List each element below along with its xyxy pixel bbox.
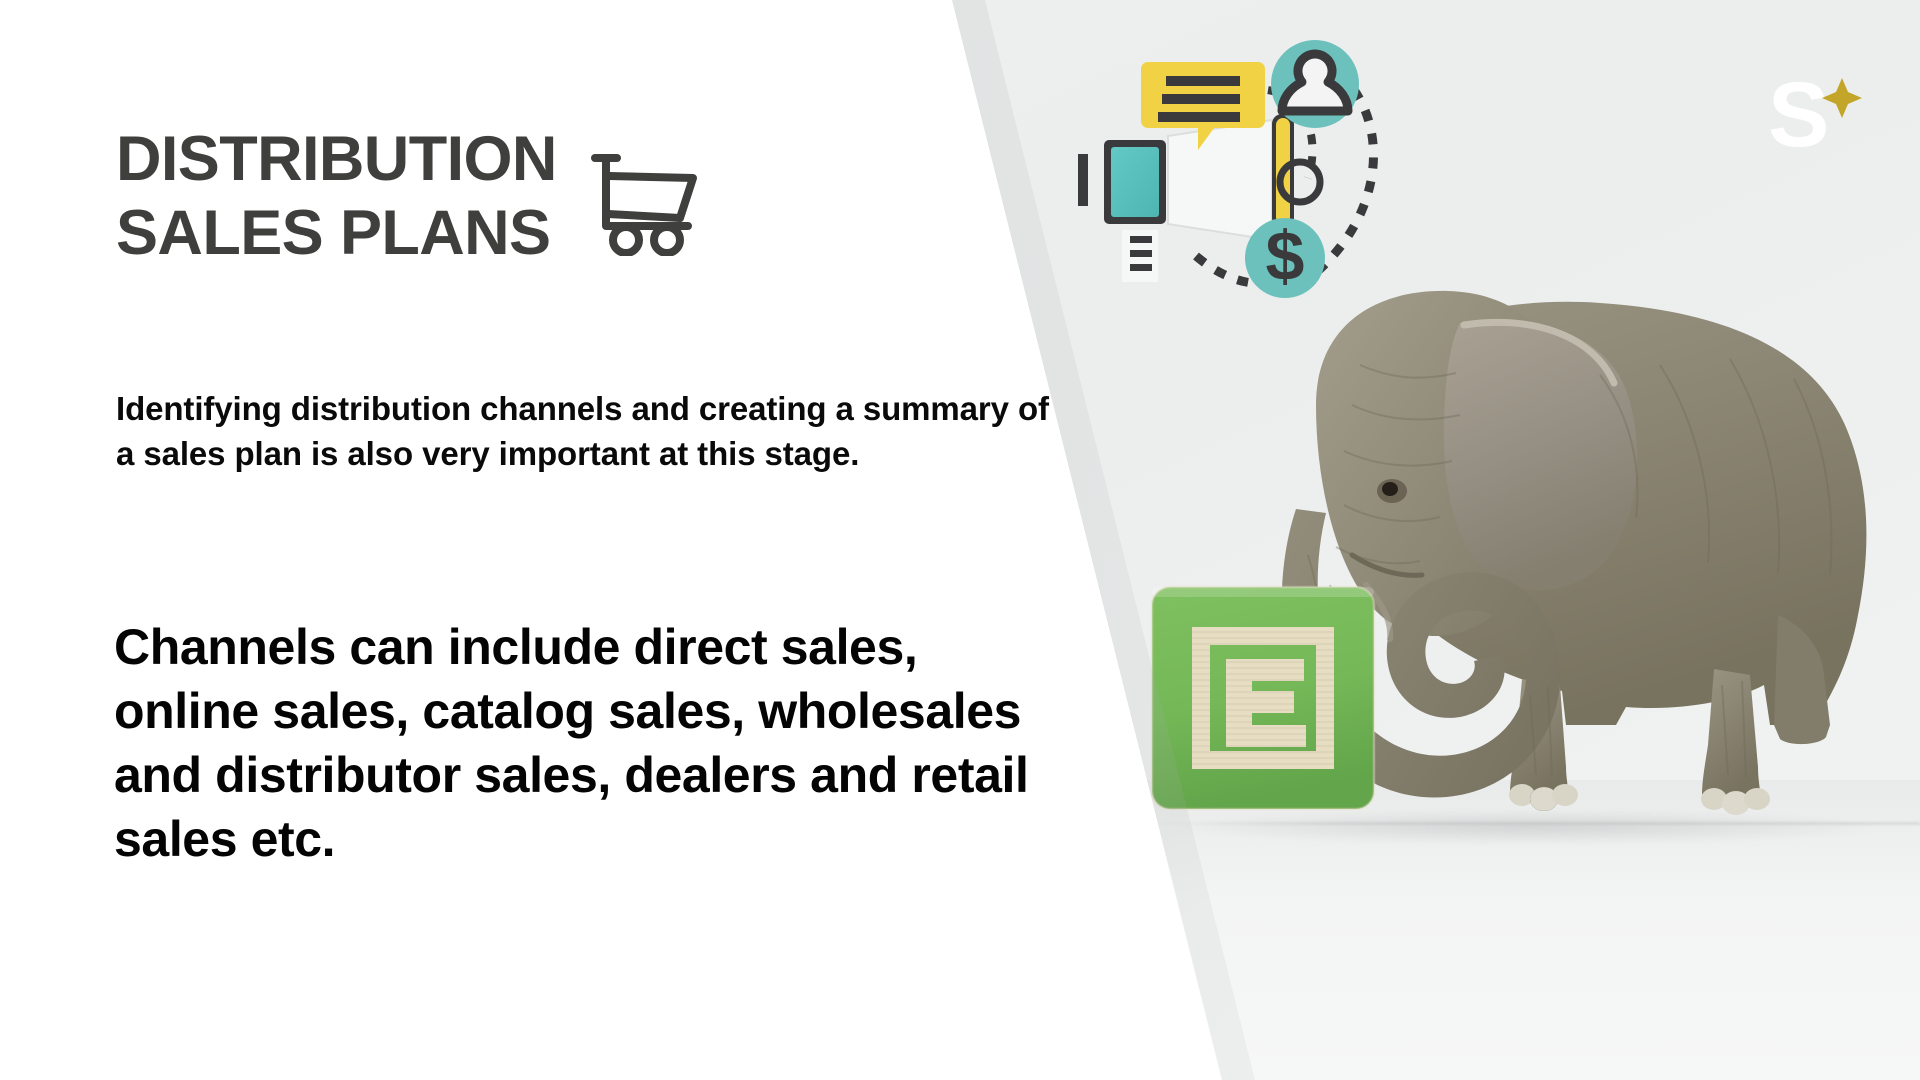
brand-logo[interactable]: S [1758, 62, 1868, 162]
marketing-megaphone-infographic: $ [1060, 18, 1400, 318]
shopping-cart-icon [583, 144, 701, 261]
page-title: DISTRIBUTION SALES PLANS [116, 122, 557, 271]
main-paragraph: Channels can include direct sales, onlin… [114, 615, 1074, 871]
slide-root: $ S DISTRIBUTION SALES PLANS [0, 0, 1920, 1080]
svg-text:$: $ [1266, 217, 1305, 295]
left-content-column: DISTRIBUTION SALES PLANS Identifying dis… [0, 0, 952, 1080]
intro-paragraph: Identifying distribution channels and cr… [116, 387, 1066, 476]
letter-block-e [1148, 583, 1388, 823]
logo-letter: S [1768, 64, 1829, 162]
title-row: DISTRIBUTION SALES PLANS [116, 122, 896, 271]
